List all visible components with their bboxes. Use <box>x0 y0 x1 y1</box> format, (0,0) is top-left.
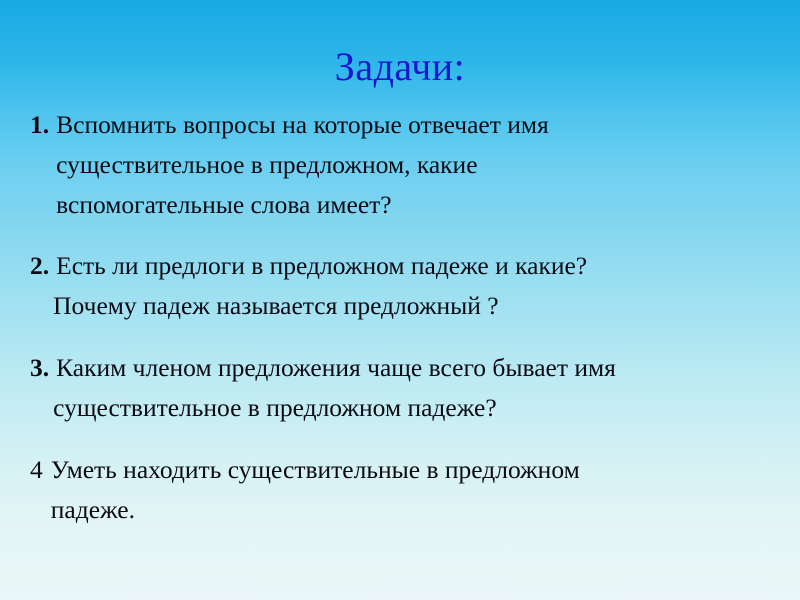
list-item-line: Каким членом предложения чаще всего быва… <box>56 348 772 388</box>
list-item-text: Вспомнить вопросы на которые отвечает им… <box>56 105 772 225</box>
slide-canvas: Задачи: 1. Вспомнить вопросы на которые … <box>0 0 800 600</box>
list-item-line: вспомогательные слова имеет? <box>56 185 772 225</box>
list-item-text: Каким членом предложения чаще всего быва… <box>56 348 772 428</box>
list-item-line: существительное в предложном, какие <box>56 145 772 185</box>
page-title: Задачи: <box>0 44 800 90</box>
list-item-number: 3. <box>30 348 56 388</box>
list-item-text: Есть ли предлоги в предложном падеже и к… <box>56 246 772 326</box>
list-item-number: 1. <box>30 105 56 145</box>
list-item-line: Почему падеж называется предложный ? <box>53 286 772 326</box>
list-item-text: Уметь находить существительные в предлож… <box>51 450 772 530</box>
task-list: 1. Вспомнить вопросы на которые отвечает… <box>30 105 772 530</box>
list-item: 3. Каким членом предложения чаще всего б… <box>30 348 772 428</box>
list-item-line: Уметь находить существительные в предлож… <box>51 450 772 490</box>
list-item-line: Вспомнить вопросы на которые отвечает им… <box>56 105 772 145</box>
list-item-line: существительное в предложном падеже? <box>53 388 772 428</box>
list-item: 4 Уметь находить существительные в предл… <box>30 450 772 530</box>
list-item: 1. Вспомнить вопросы на которые отвечает… <box>30 105 772 225</box>
list-item-number: 4 <box>30 450 51 490</box>
list-item-line: Есть ли предлоги в предложном падеже и к… <box>56 246 772 286</box>
list-item-line: падеже. <box>51 490 772 530</box>
list-item: 2. Есть ли предлоги в предложном падеже … <box>30 246 772 326</box>
list-item-number: 2. <box>30 246 56 286</box>
